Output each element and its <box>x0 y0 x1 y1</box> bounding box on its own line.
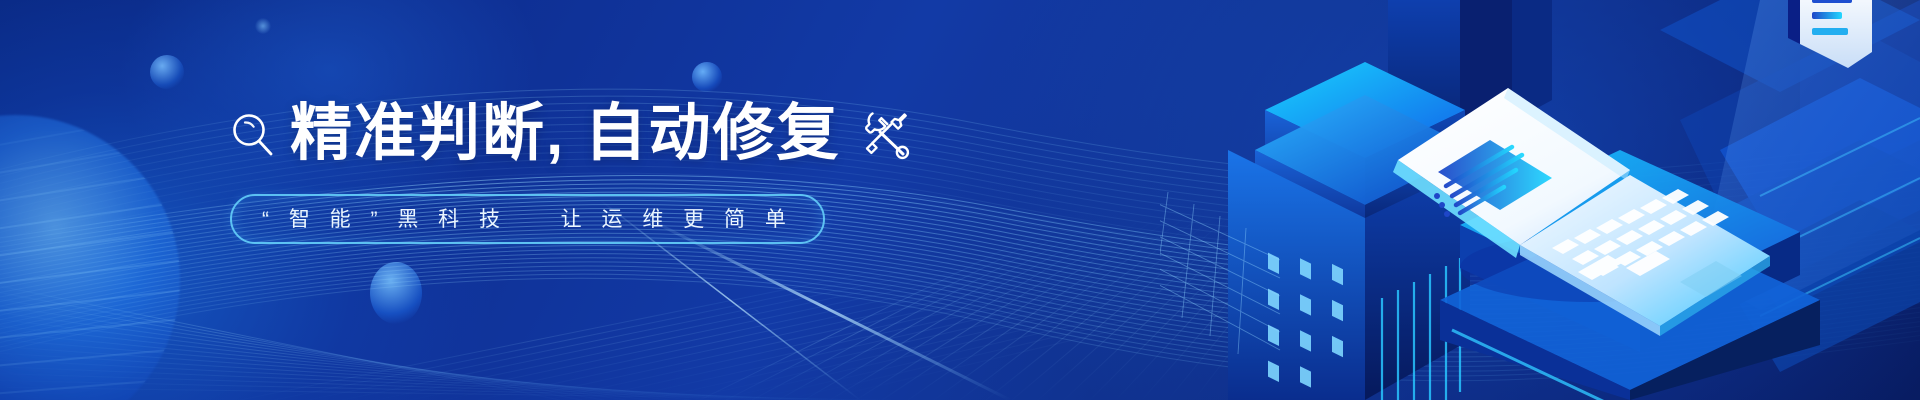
light-orb <box>255 18 271 34</box>
wrench-screwdriver-icon <box>858 105 914 166</box>
hero-banner: 精准判断, 自动修复 “ 智 能 ” 黑 科 技 让 运 维 更 简 单 <box>0 0 1920 400</box>
headline-row: 精准判断, 自动修复 <box>230 96 930 172</box>
light-orb <box>370 262 422 324</box>
subtitle-text: “ 智 能 ” 黑 科 技 让 运 维 更 简 单 <box>262 209 793 230</box>
page-title: 精准判断, 自动修复 <box>290 103 840 165</box>
light-orb <box>692 62 722 92</box>
subtitle-pill: “ 智 能 ” 黑 科 技 让 运 维 更 简 单 <box>230 194 825 244</box>
banner-copy: 精准判断, 自动修复 “ 智 能 ” 黑 科 技 让 运 维 更 简 单 <box>230 96 930 244</box>
globe-latitude-rings <box>0 115 180 400</box>
isometric-illustration <box>1160 0 1920 400</box>
light-orb <box>150 55 184 89</box>
glowing-globe <box>0 115 180 400</box>
magnifier-icon <box>230 110 276 165</box>
